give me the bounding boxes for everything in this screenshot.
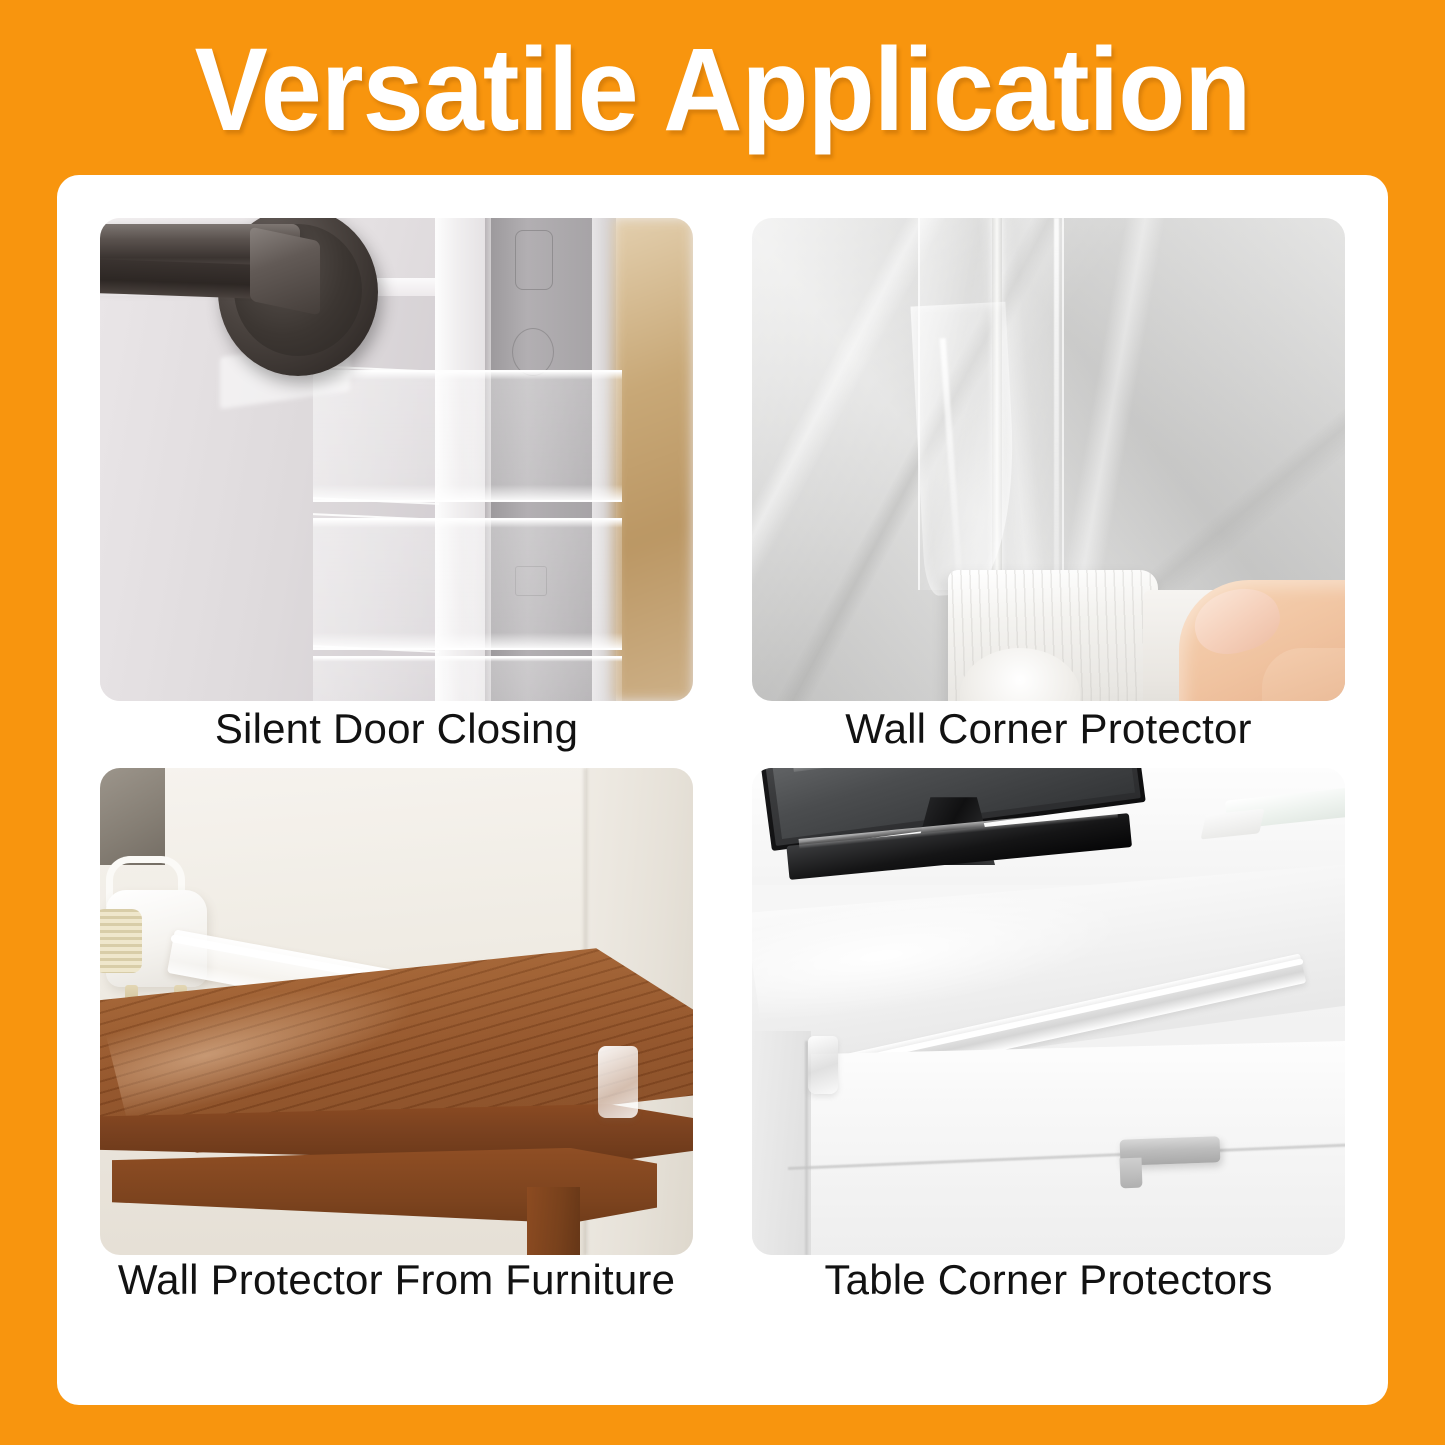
tape-right-edge [1054, 218, 1059, 578]
door-lever-tip [250, 227, 320, 316]
background-blur [613, 218, 693, 701]
drawer-handle-leg [1119, 1157, 1142, 1188]
dark-cabinet [100, 768, 165, 865]
corner-guard-face-2 [313, 513, 439, 653]
appliance-grill [100, 909, 142, 972]
tape-roll-icon [752, 218, 1345, 701]
panel-grid: Silent Door Closing [100, 218, 1345, 1365]
versatile-application-poster: Versatile Application [0, 0, 1445, 1445]
strip-end-cap [598, 1046, 638, 1118]
cabinet-side [752, 1031, 811, 1255]
page-title: Versatile Application [51, 26, 1395, 156]
desk-icon [100, 768, 693, 1255]
panel-caption: Wall Corner Protector [752, 701, 1345, 756]
corner-guard-strip-3 [313, 656, 621, 701]
door-icon [100, 218, 693, 701]
content-card: Silent Door Closing [57, 175, 1388, 1405]
frame-detail-b [512, 328, 554, 376]
tv-cabinet-icon [752, 768, 1345, 1255]
panel-caption: Silent Door Closing [100, 701, 693, 756]
frame-detail-a [515, 230, 553, 290]
panel-caption: Wall Protector From Furniture [100, 1255, 693, 1305]
panel-wall-protector-from-furniture[interactable]: Wall Protector From Furniture [100, 768, 693, 1305]
panel-caption: Table Corner Protectors [752, 1255, 1345, 1305]
panel-silent-door-closing[interactable]: Silent Door Closing [100, 218, 693, 756]
panel-wall-corner-protector[interactable]: Wall Corner Protector [752, 218, 1345, 756]
panel-table-corner-protectors[interactable]: Table Corner Protectors [752, 768, 1345, 1305]
desk-leg [527, 1187, 580, 1255]
strip-end-cap [808, 1036, 838, 1094]
